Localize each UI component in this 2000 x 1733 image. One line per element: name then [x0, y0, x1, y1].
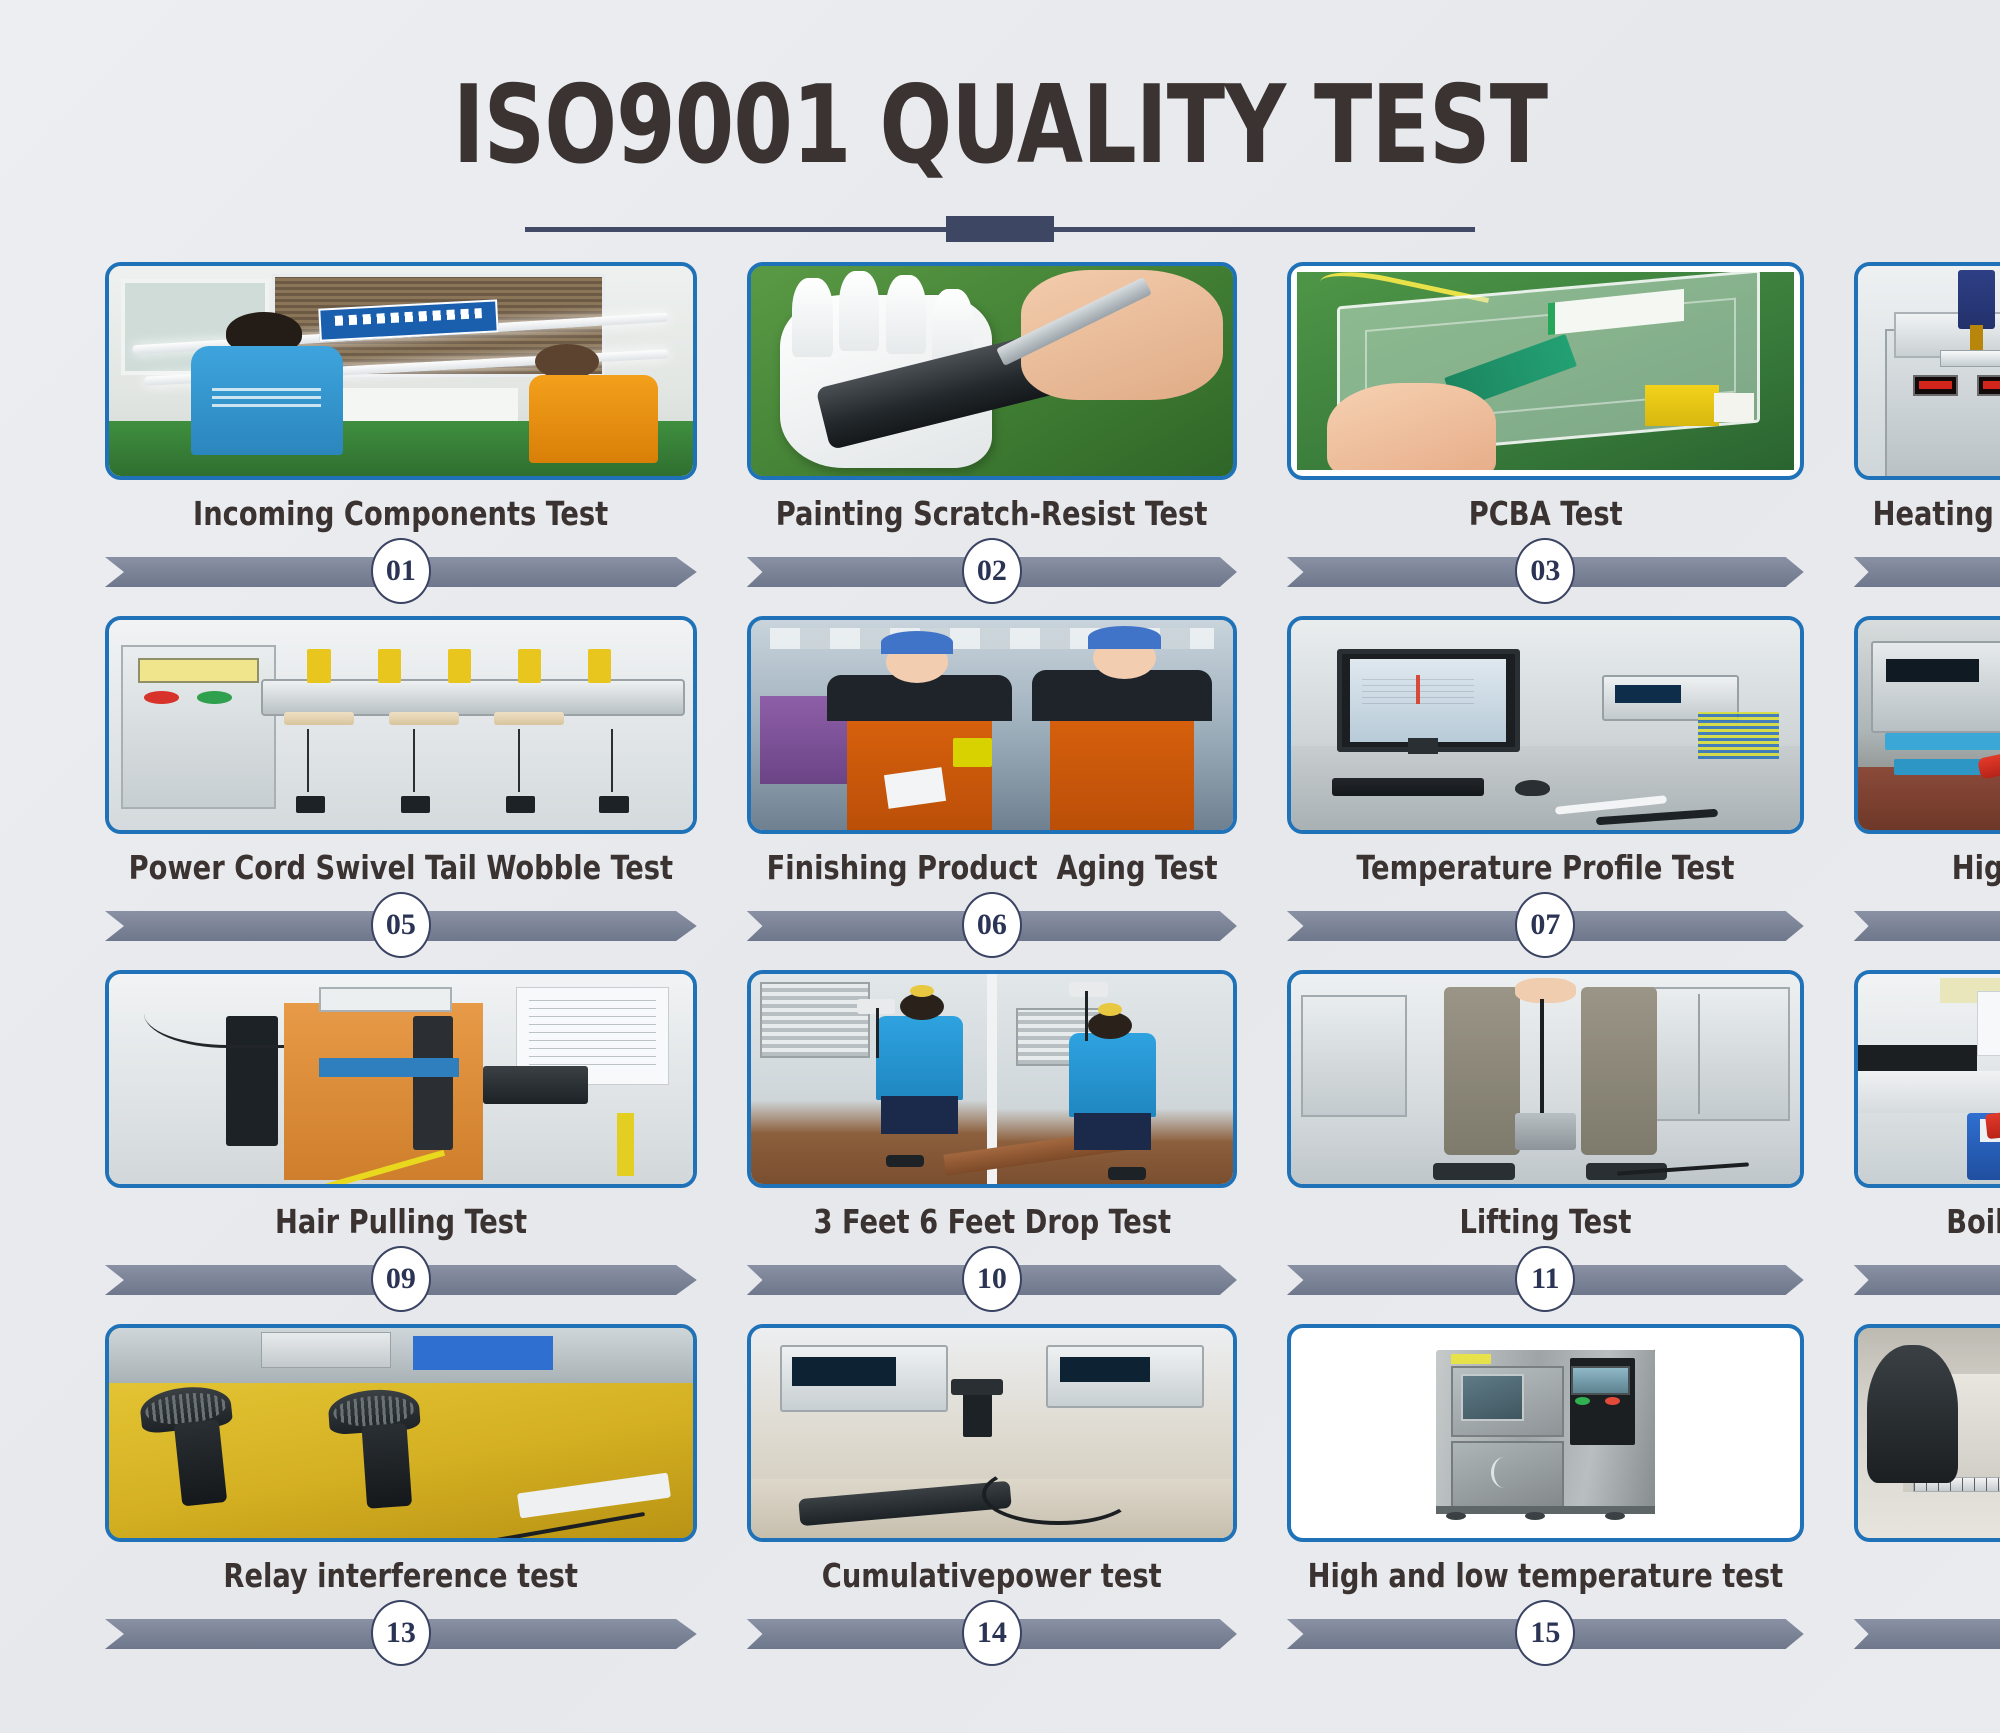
card-ribbon: 07	[1287, 894, 1804, 956]
card-label: 3 Feet 6 Feet Drop Test	[813, 1198, 1171, 1246]
card-ribbon: 16	[1854, 1602, 2000, 1664]
test-card[interactable]: Relay interference test 13	[105, 1324, 697, 1664]
card-label: Hair Pulling Test	[275, 1198, 527, 1246]
card-photo-incoming-components-inspection-area	[105, 262, 697, 480]
test-card[interactable]: Temperature Profile Test 07	[1287, 616, 1804, 956]
card-label: Lifting Test	[1459, 1198, 1631, 1246]
card-ribbon: 02	[747, 540, 1237, 602]
card-photo-two-hair-dryers-on-yellow-mat	[105, 1324, 697, 1542]
card-photo-boiling-water-test-bench: Boiling test	[1854, 970, 2000, 1188]
card-label: Temperature Profile Test	[1356, 844, 1734, 892]
card-photo-heating-plate-abrasion-machine	[1854, 262, 2000, 480]
card-ribbon: 04	[1854, 540, 2000, 602]
test-card[interactable]: Lifting Test 11	[1287, 970, 1804, 1310]
card-number-badge: 03	[1515, 538, 1575, 604]
poster-page: ISO9001 QUALITY TEST Incoming Components…	[0, 0, 2000, 1733]
test-card[interactable]: Noise test 16	[1854, 1324, 2000, 1664]
ribbon-bar	[1854, 1619, 2000, 1649]
test-card[interactable]: Cumulativepower test 14	[747, 1324, 1237, 1664]
card-photo-desk-with-monitor-and-instrument	[1287, 616, 1804, 834]
card-label: Finishing Product Aging Test	[766, 844, 1217, 892]
card-ribbon: 03	[1287, 540, 1804, 602]
test-card[interactable]: 3 Feet 6 Feet Drop Test 10	[747, 970, 1237, 1310]
card-ribbon: 06	[747, 894, 1237, 956]
test-card-grid: Incoming Components Test 01 Painting Scr…	[105, 262, 1895, 1664]
card-ribbon: 11	[1287, 1248, 1804, 1310]
card-label: High Voltage Test	[1951, 844, 2000, 892]
card-label: Heating Plate Abrasion Test	[1872, 490, 2000, 538]
test-card[interactable]: Boiling test Boiling Water Test 12	[1854, 970, 2000, 1310]
card-ribbon: 14	[747, 1602, 1237, 1664]
test-card[interactable]: Power Cord Swivel Tail Wobble Test 05	[105, 616, 697, 956]
card-label: Painting Scratch-Resist Test	[776, 490, 1208, 538]
card-label: Incoming Components Test	[193, 490, 608, 538]
card-photo-power-meters-with-hair-dryer	[747, 1324, 1237, 1542]
card-ribbon: 12	[1854, 1248, 2000, 1310]
card-number-badge: 15	[1515, 1600, 1575, 1666]
ribbon-bar	[1854, 911, 2000, 941]
card-ribbon: 13	[105, 1602, 697, 1664]
card-photo-legs-holding-cord-with-hanging-weight	[1287, 970, 1804, 1188]
test-card[interactable]: Painting Scratch-Resist Test 02	[747, 262, 1237, 602]
card-photo-workers-in-orange-vests-aging-line	[747, 616, 1237, 834]
boiling-test-sign-text: Boiling test	[1977, 1003, 2000, 1028]
card-number-badge: 11	[1515, 1246, 1575, 1312]
card-ribbon: 15	[1287, 1602, 1804, 1664]
card-label: Boiling Water Test	[1946, 1198, 2000, 1246]
divider-center-block	[946, 216, 1054, 242]
card-ribbon: 05	[105, 894, 697, 956]
card-label: Relay interference test	[224, 1552, 579, 1600]
card-label: Cumulativepower test	[822, 1552, 1162, 1600]
test-card[interactable]: Hair Pulling Test 09	[105, 970, 697, 1310]
divider-line	[525, 227, 1475, 232]
test-card[interactable]: High and low temperature test 15	[1287, 1324, 1804, 1664]
card-number-badge: 13	[371, 1600, 431, 1666]
card-ribbon: 10	[747, 1248, 1237, 1310]
card-photo-hand-holding-pcba-in-clear-fixture	[1287, 262, 1804, 480]
card-photo-high-voltage-tester-with-red-probe	[1854, 616, 2000, 834]
card-ribbon: 08	[1854, 894, 2000, 956]
card-label: PCBA Test	[1468, 490, 1622, 538]
title-divider	[0, 218, 2000, 240]
card-photo-hair-pulling-test-rig-orange-board	[105, 970, 697, 1188]
card-number-badge: 06	[962, 892, 1022, 958]
card-photo-high-low-temperature-chamber	[1287, 1324, 1804, 1542]
page-title: ISO9001 QUALITY TEST	[120, 72, 1880, 180]
card-number-badge: 14	[962, 1600, 1022, 1666]
card-photo-noise-meter-with-ruler-and-dryer	[1854, 1324, 2000, 1542]
card-photo-gloved-hand-scratching-painted-barrel	[747, 262, 1237, 480]
card-number-badge: 09	[371, 1246, 431, 1312]
card-label: Power Cord Swivel Tail Wobble Test	[129, 844, 673, 892]
ribbon-bar	[1854, 557, 2000, 587]
card-photo-power-cord-swivel-wobble-rig	[105, 616, 697, 834]
card-number-badge: 01	[371, 538, 431, 604]
test-card[interactable]: PCBA Test 03	[1287, 262, 1804, 602]
card-photo-two-frame-drop-test-operator	[747, 970, 1237, 1188]
test-card[interactable]: Heating Plate Abrasion Test 04	[1854, 262, 2000, 602]
card-number-badge: 10	[962, 1246, 1022, 1312]
card-number-badge: 02	[962, 538, 1022, 604]
test-card[interactable]: High Voltage Test 08	[1854, 616, 2000, 956]
test-card[interactable]: Incoming Components Test 01	[105, 262, 697, 602]
card-number-badge: 07	[1515, 892, 1575, 958]
poster-header: ISO9001 QUALITY TEST	[0, 0, 2000, 240]
card-label: High and low temperature test	[1308, 1552, 1783, 1600]
card-ribbon: 09	[105, 1248, 697, 1310]
test-card[interactable]: Finishing Product Aging Test 06	[747, 616, 1237, 956]
ribbon-bar	[1854, 1265, 2000, 1295]
card-ribbon: 01	[105, 540, 697, 602]
card-number-badge: 05	[371, 892, 431, 958]
